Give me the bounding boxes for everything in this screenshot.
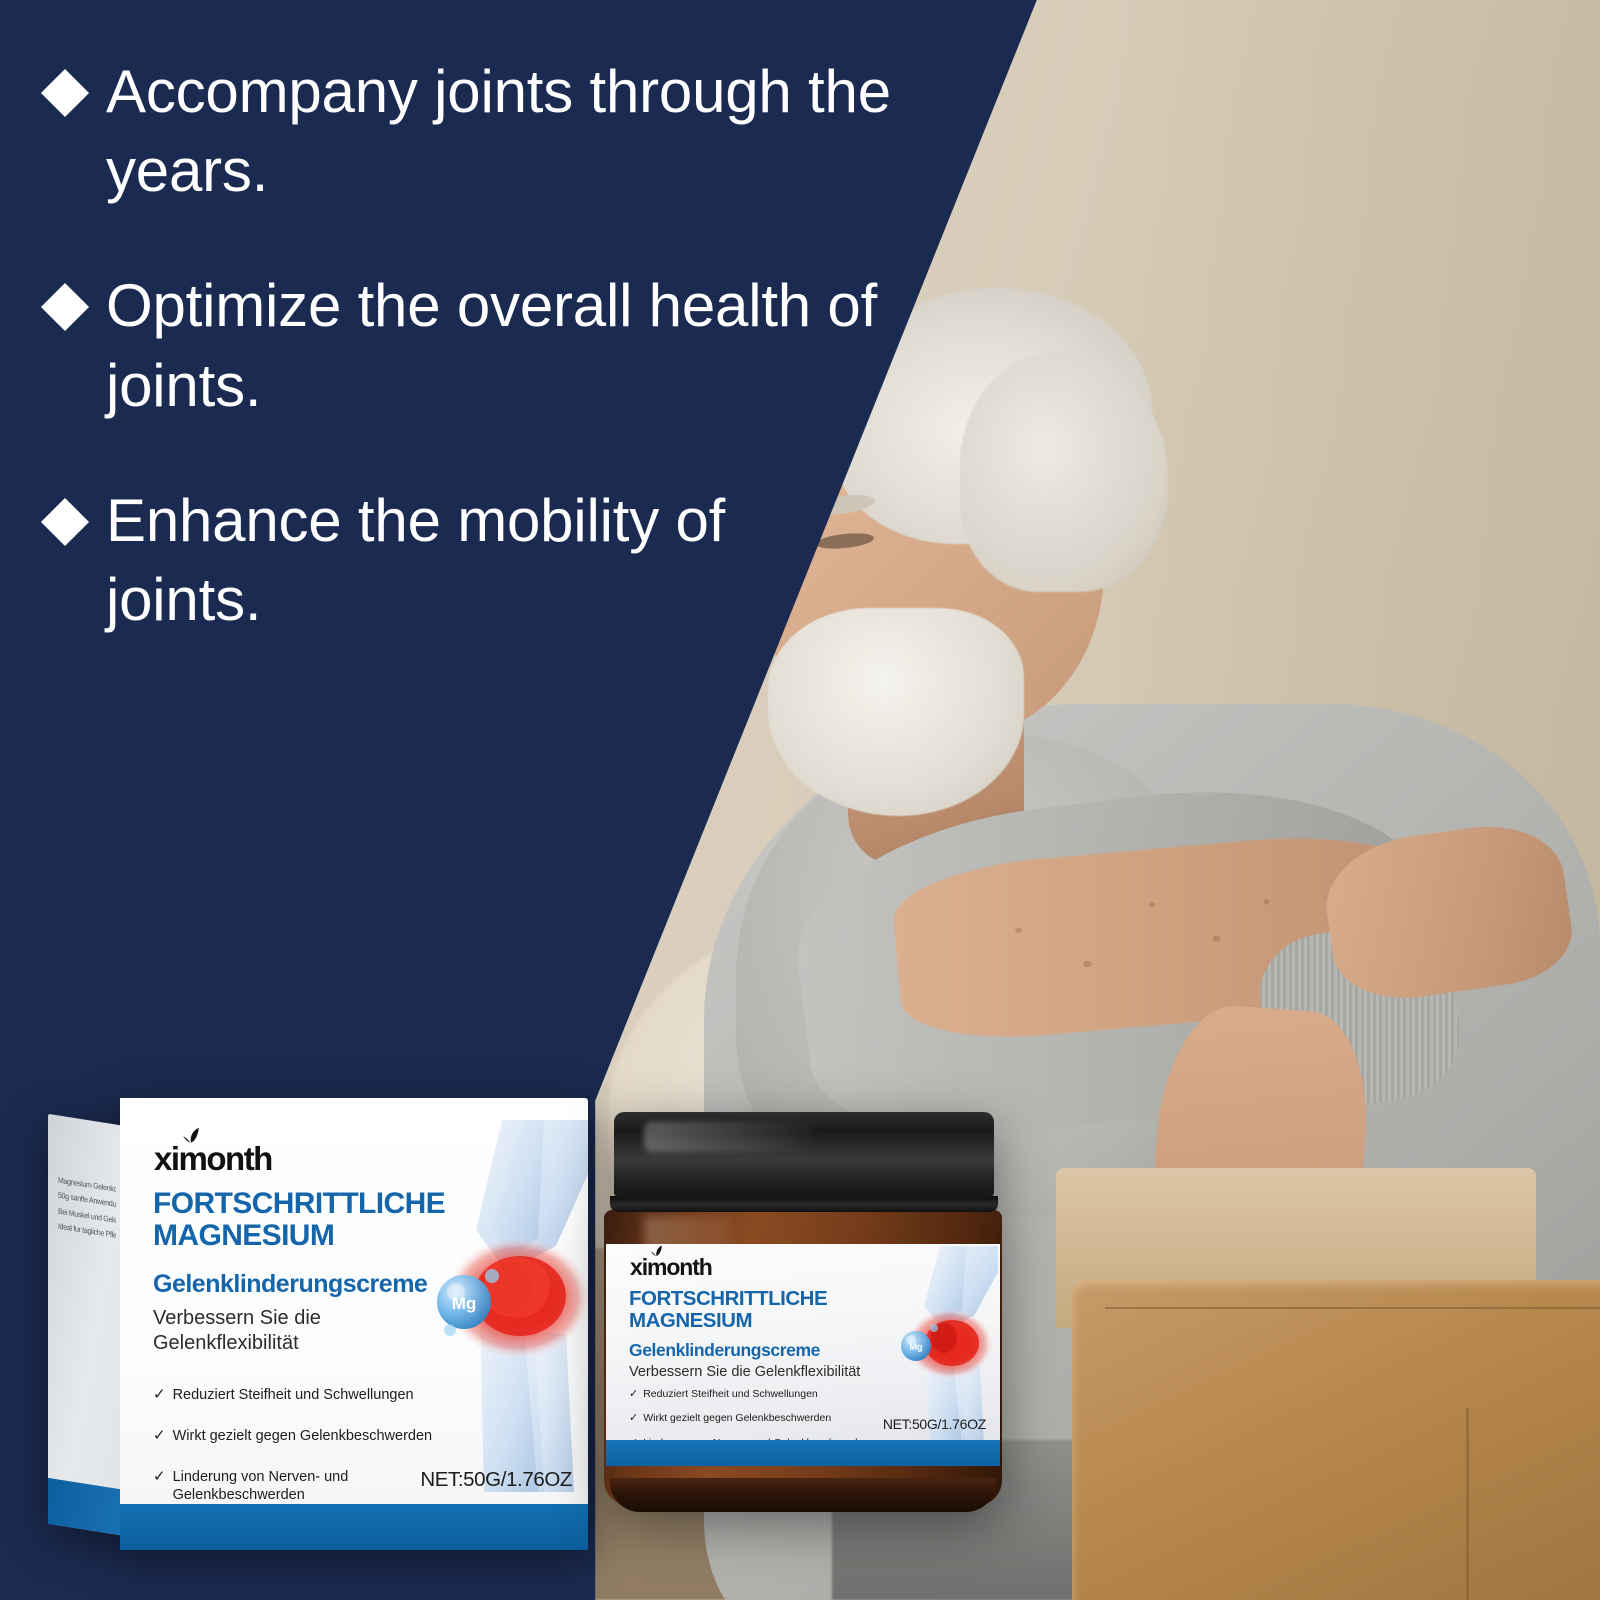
svg-text:Mg: Mg — [452, 1294, 477, 1313]
diamond-bullet-icon — [41, 283, 89, 331]
carton-benefit-text: Linderung von Nerven- und Gelenkbeschwer… — [173, 1468, 453, 1504]
armrest-edge — [1466, 1408, 1469, 1600]
benefit-text: Accompany joints through the years. — [106, 52, 906, 210]
tagline-line1: Verbessern Sie die — [153, 1306, 321, 1331]
carton-front-panel: Mg ximonth FORTSCHRITTLICHE MAGNESIUM Ge… — [120, 1098, 588, 1550]
carton-bottom-band — [120, 1504, 588, 1550]
product-jar: Mg ximonth FORTSCHRITTLICHE MAGNESIUM Ge… — [596, 1112, 1010, 1512]
check-icon: ✓ — [153, 1386, 166, 1405]
carton-side-microtext: Magnesium Gelenkcreme 50g sanfte Anwendu… — [58, 1173, 116, 1243]
product-subtitle: Gelenklinderungscreme — [629, 1340, 820, 1361]
benefit-text: Optimize the overall health of joints. — [106, 266, 906, 424]
product-title-line2: MAGNESIUM — [629, 1310, 827, 1332]
benefit-item: Accompany joints through the years. — [38, 52, 918, 210]
product-banner: Accompany joints through the years. Opti… — [0, 0, 1600, 1600]
jar-bottom-band — [606, 1440, 1000, 1466]
jar-lid-lip — [610, 1196, 998, 1212]
leaf-icon — [650, 1245, 663, 1257]
benefit-item: Optimize the overall health of joints. — [38, 266, 918, 424]
brand-logo: ximonth — [630, 1256, 712, 1279]
carton-benefit-item: ✓ Reduziert Steifheit und Schwellungen — [153, 1386, 453, 1405]
brand-prefix: xi — [630, 1254, 647, 1280]
brand-logo: ximonth — [154, 1142, 272, 1175]
brand-prefix: xi — [154, 1140, 179, 1177]
leaf-icon — [182, 1127, 200, 1144]
product-title-line2: MAGNESIUM — [153, 1220, 445, 1252]
carton-benefit-text: Reduziert Steifheit und Schwellungen — [173, 1386, 414, 1405]
jar-benefit-item: ✓ Reduziert Steifheit und Schwellungen — [629, 1388, 879, 1401]
product-tagline: Verbessern Sie die Gelenkflexibilität — [629, 1364, 860, 1380]
carton-net-weight: NET:50G/1.76OZ — [420, 1468, 572, 1492]
check-icon: ✓ — [629, 1388, 638, 1401]
product-title-line1: FORTSCHRITTLICHE — [153, 1188, 445, 1220]
check-icon: ✓ — [153, 1468, 166, 1504]
carton-side-band — [48, 1478, 126, 1536]
tagline-line2: Gelenkflexibilität — [153, 1331, 321, 1356]
jar-base — [610, 1478, 996, 1512]
product-subtitle: Gelenklinderungscreme — [153, 1270, 427, 1299]
jar-benefit-text: Reduziert Steifheit und Schwellungen — [643, 1388, 818, 1401]
product-title-line1: FORTSCHRITTLICHE — [629, 1288, 827, 1310]
carton-benefit-text: Wirkt gezielt gegen Gelenkbeschwerden — [173, 1427, 433, 1446]
jar-label: Mg ximonth FORTSCHRITTLICHE MAGNESIUM Ge… — [606, 1244, 1000, 1466]
jar-lid — [614, 1112, 994, 1198]
product-title: FORTSCHRITTLICHE MAGNESIUM — [153, 1188, 445, 1252]
diamond-bullet-icon — [41, 498, 89, 546]
benefit-item: Enhance the mobility of joints. — [38, 481, 918, 639]
carton-benefit-item: ✓ Wirkt gezielt gegen Gelenkbeschwerden — [153, 1427, 453, 1446]
armrest-seam — [1105, 1307, 1600, 1309]
jar-net-weight: NET:50G/1.76OZ — [883, 1416, 986, 1432]
benefits-list: Accompany joints through the years. Opti… — [38, 52, 918, 695]
carton-side-panel: Magnesium Gelenkcreme 50g sanfte Anwendu… — [48, 1114, 126, 1536]
benefit-text: Enhance the mobility of joints. — [106, 481, 766, 639]
sofa-armrest — [1072, 1280, 1600, 1600]
jar-benefit-text: Wirkt gezielt gegen Gelenkbeschwerden — [643, 1412, 831, 1425]
product-tagline: Verbessern Sie die Gelenkflexibilität — [153, 1306, 321, 1356]
carton-benefit-item: ✓ Linderung von Nerven- und Gelenkbeschw… — [153, 1468, 453, 1504]
brand-suffix: month — [647, 1254, 712, 1280]
jar-lid-highlight — [644, 1122, 819, 1151]
product-carton: Magnesium Gelenkcreme 50g sanfte Anwendu… — [48, 1098, 588, 1550]
svg-text:Mg: Mg — [910, 1342, 923, 1352]
diamond-bullet-icon — [41, 69, 89, 117]
product-title: FORTSCHRITTLICHE MAGNESIUM — [629, 1288, 827, 1331]
brand-suffix: month — [179, 1140, 272, 1177]
check-icon: ✓ — [153, 1427, 166, 1446]
jar-benefit-item: ✓ Wirkt gezielt gegen Gelenkbeschwerden — [629, 1412, 879, 1425]
check-icon: ✓ — [629, 1412, 638, 1425]
